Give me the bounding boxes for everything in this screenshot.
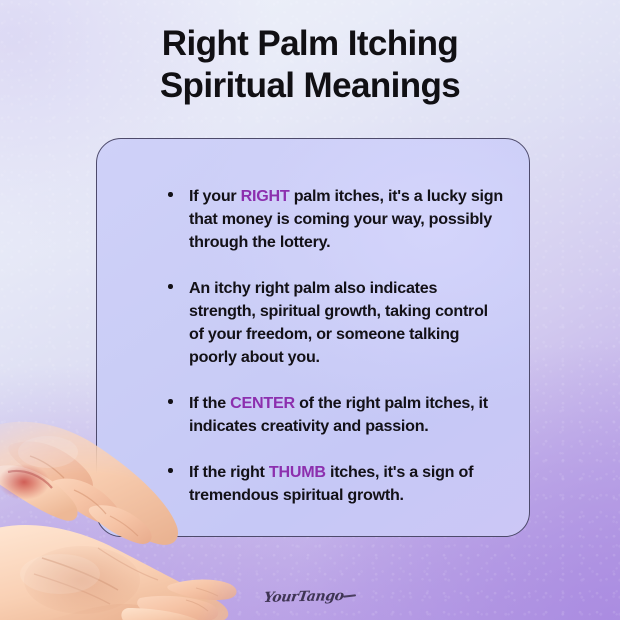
page-title-line-2: Spiritual Meanings xyxy=(0,65,620,107)
text-run: An itchy right palm also indicates stren… xyxy=(189,279,488,366)
highlighted-keyword: RIGHT xyxy=(241,187,290,205)
bullet-dot-icon xyxy=(168,399,173,404)
bullet-dot-icon xyxy=(168,192,173,197)
bullet-dot-icon xyxy=(168,284,173,289)
list-item-text: If your RIGHT palm itches, it's a lucky … xyxy=(189,187,503,251)
yourtango-wordmark: YourTango xyxy=(263,588,345,606)
highlighted-keyword: THUMB xyxy=(269,463,326,481)
page-title-line-1: Right Palm Itching xyxy=(0,23,620,65)
list-item: An itchy right palm also indicates stren… xyxy=(167,277,503,369)
list-item-text: An itchy right palm also indicates stren… xyxy=(189,279,488,366)
infographic-canvas: Right Palm Itching Spiritual Meanings If… xyxy=(0,0,620,620)
page-title: Right Palm Itching Spiritual Meanings xyxy=(0,23,620,107)
list-item: If your RIGHT palm itches, it's a lucky … xyxy=(167,185,503,254)
text-run: If your xyxy=(189,187,241,205)
logo-underline-flourish xyxy=(343,595,356,598)
yourtango-logo: YourTango xyxy=(0,588,620,606)
